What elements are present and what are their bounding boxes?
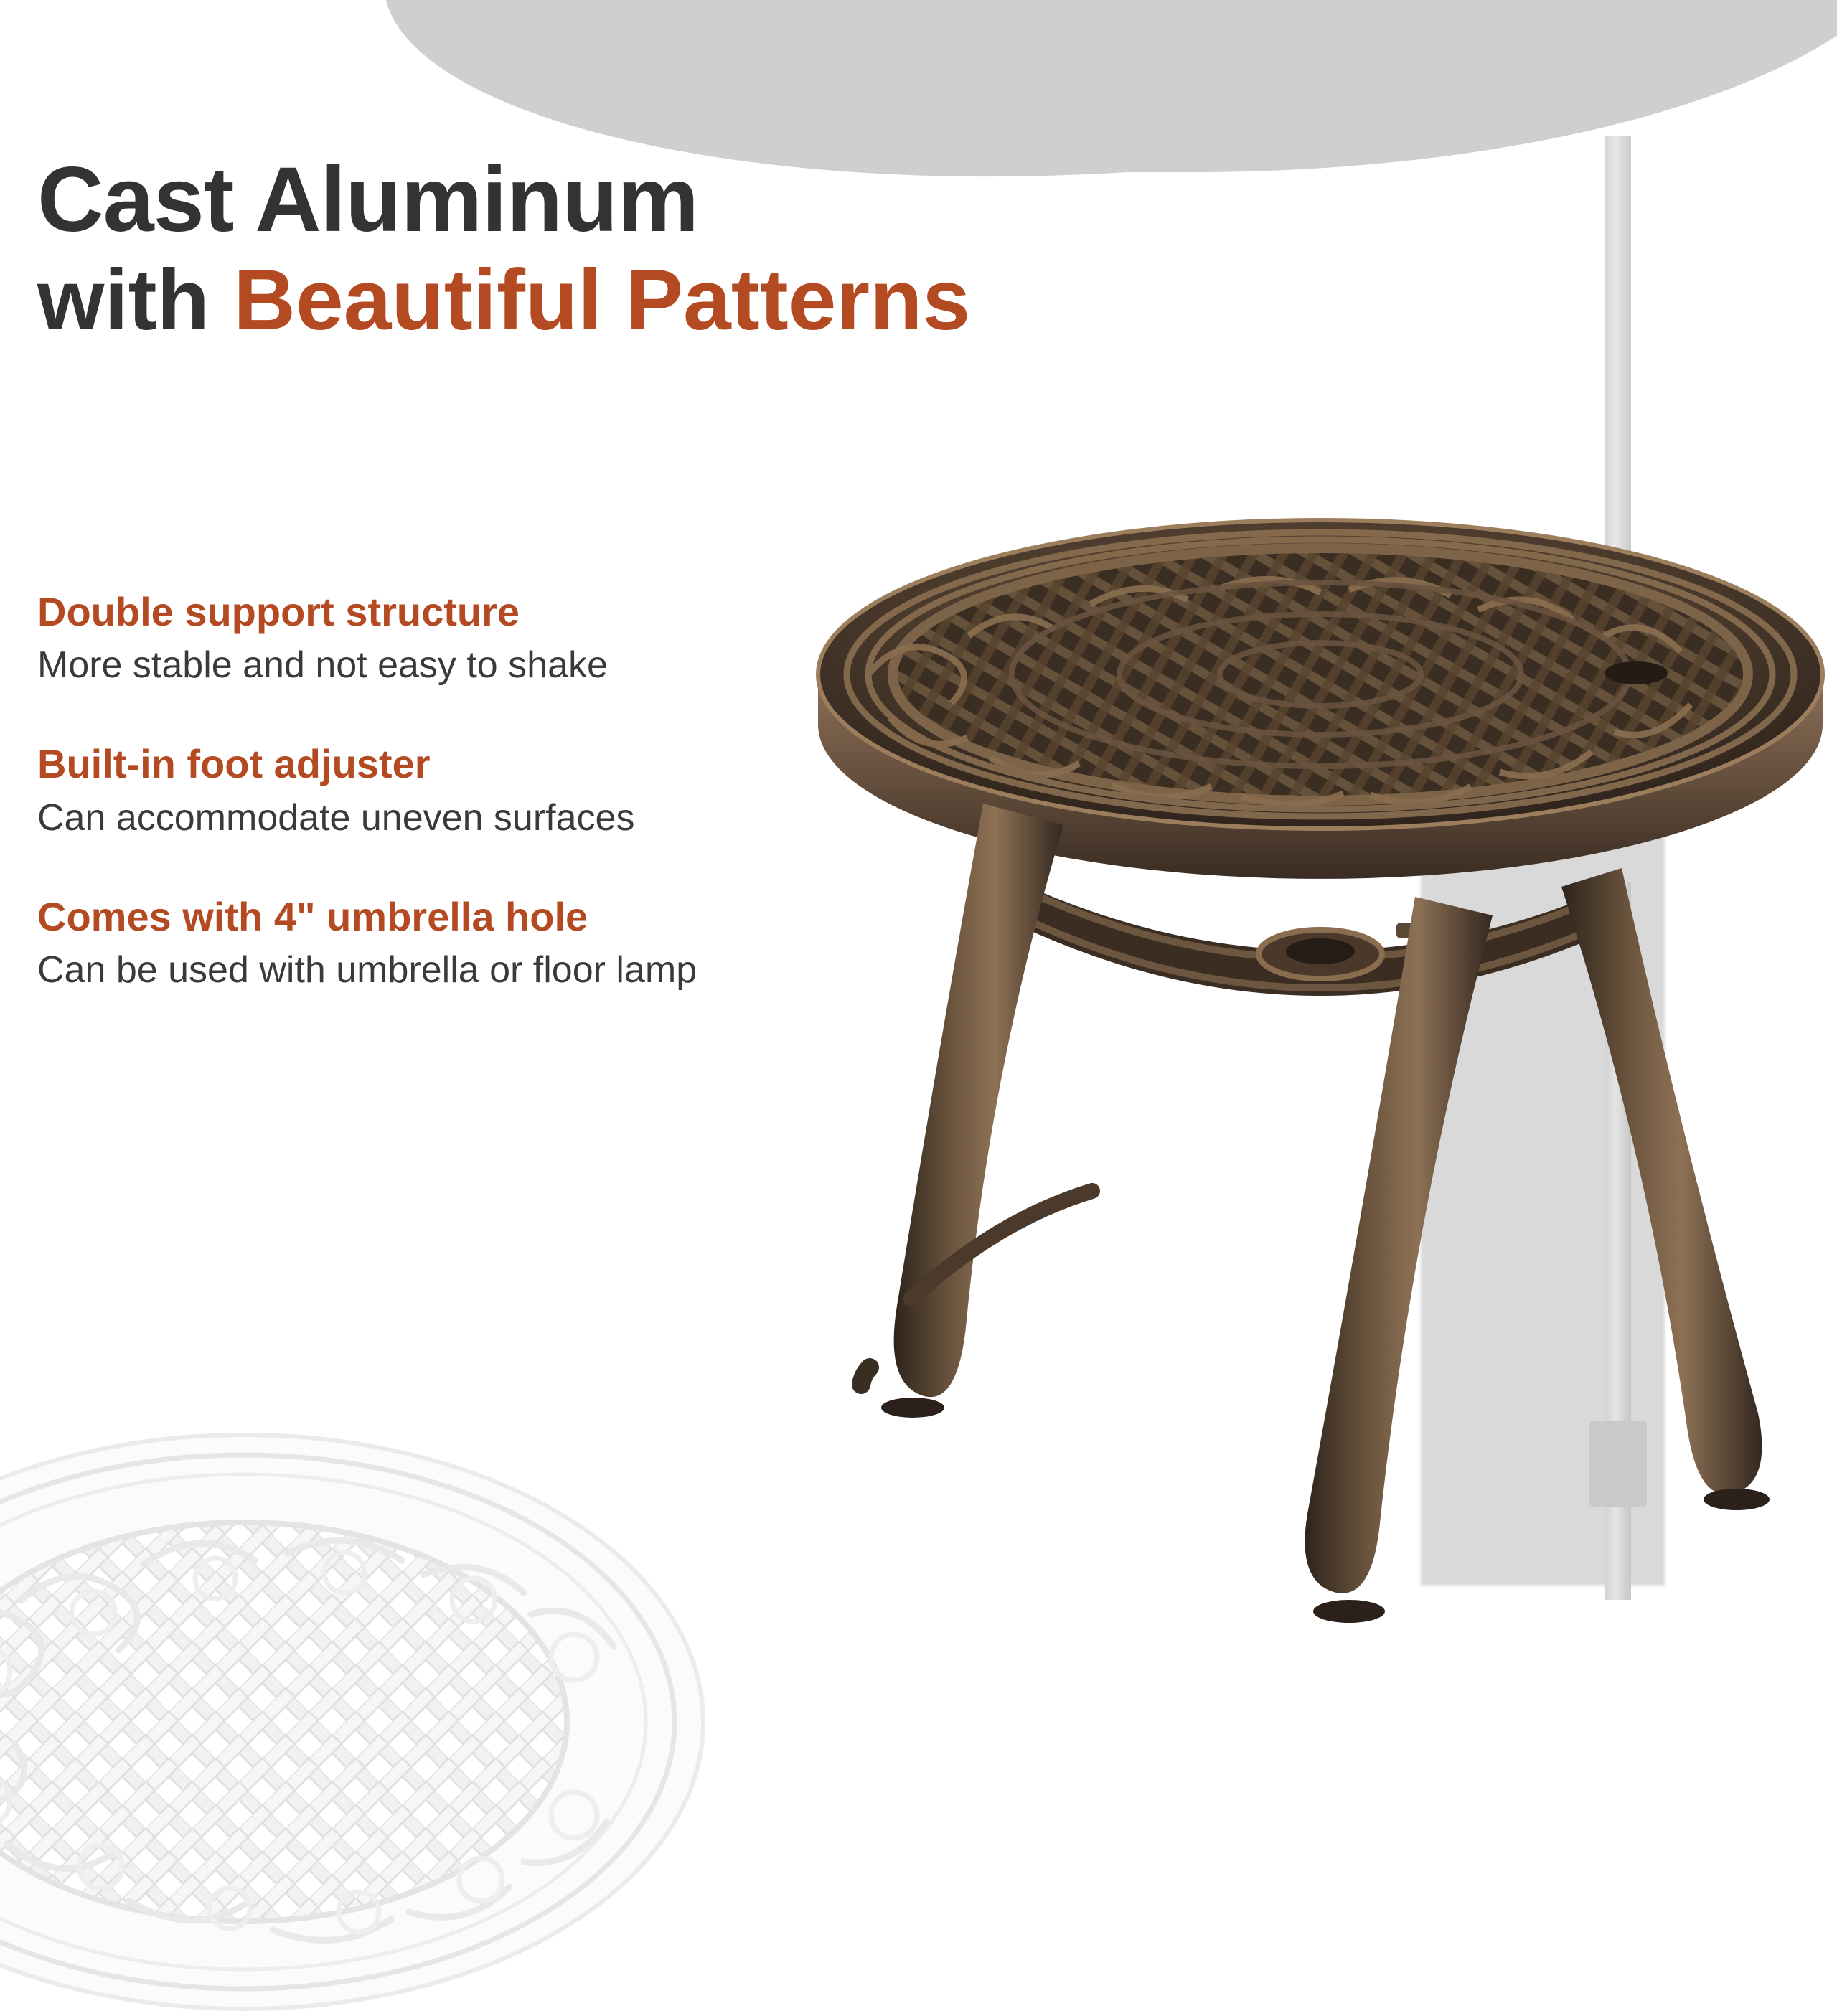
headline-line-2-prefix: with xyxy=(37,252,233,348)
umbrella-canopy-shape-secondary xyxy=(703,0,1837,172)
feature-item-umbrella-hole: Comes with 4" umbrella hole Can be used … xyxy=(37,893,985,992)
headline-line-2: with Beautiful Patterns xyxy=(37,246,1401,354)
feature-subtitle: More stable and not easy to shake xyxy=(37,643,985,687)
feature-subtitle: Can be used with umbrella or floor lamp xyxy=(37,948,985,992)
feature-title: Comes with 4" umbrella hole xyxy=(37,893,985,941)
feature-item-double-support: Double support structure More stable and… xyxy=(37,588,985,687)
feature-list: Double support structure More stable and… xyxy=(37,588,985,1045)
headline-line-2-accent: Beautiful Patterns xyxy=(233,252,970,348)
headline-block: Cast Aluminum with Beautiful Patterns xyxy=(37,154,1401,354)
feature-item-foot-adjuster: Built-in foot adjuster Can accommodate u… xyxy=(37,740,985,839)
feature-subtitle: Can accommodate uneven surfaces xyxy=(37,796,985,840)
ghost-table-illustration xyxy=(0,1385,789,2016)
feature-title: Double support structure xyxy=(37,588,985,636)
headline-line-1: Cast Aluminum xyxy=(37,154,1401,246)
feature-title: Built-in foot adjuster xyxy=(37,740,985,788)
